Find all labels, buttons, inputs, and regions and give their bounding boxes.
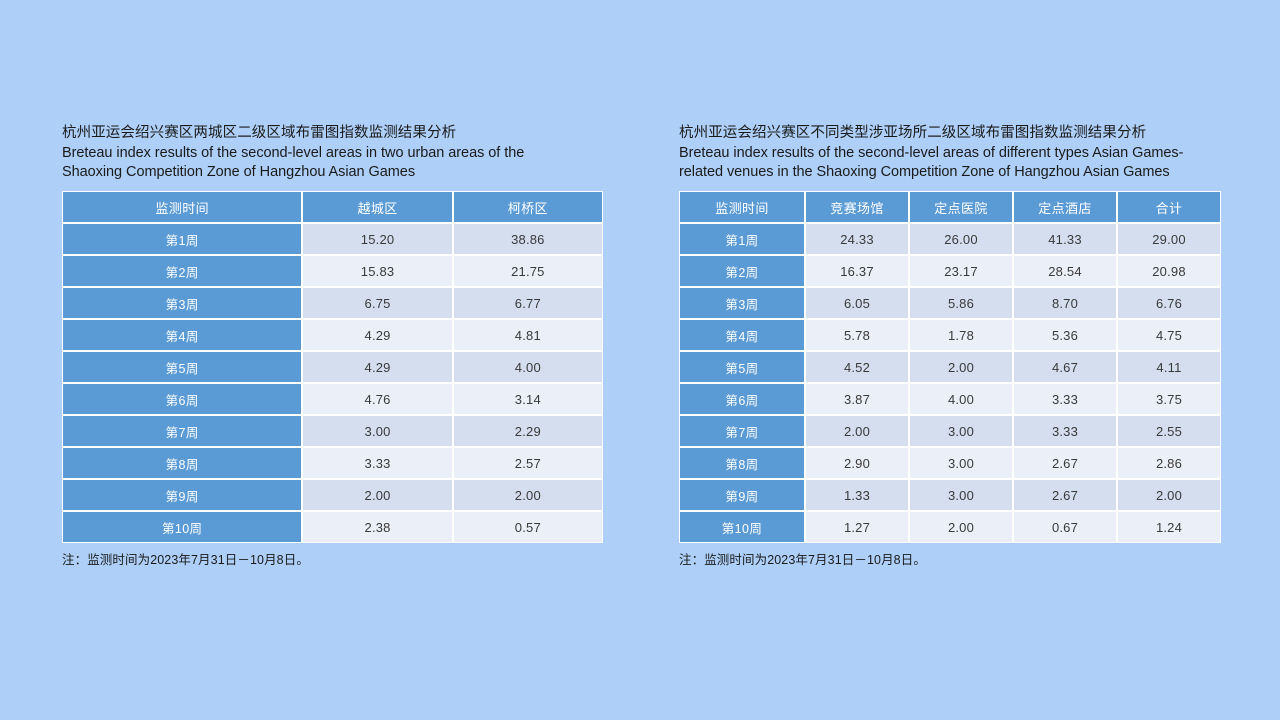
row-label: 第8周 <box>62 447 302 479</box>
cell-value: 2.57 <box>453 447 603 479</box>
column-header-hotel: 定点酒店 <box>1013 191 1117 223</box>
left-title-english-line2: Shaoxing Competition Zone of Hangzhou As… <box>62 163 603 181</box>
cell-value: 4.81 <box>453 319 603 351</box>
cell-value: 6.05 <box>805 287 909 319</box>
column-header-venue: 竞赛场馆 <box>805 191 909 223</box>
right-table-note: 注：监测时间为2023年7月31日－10月8日。 <box>679 549 1220 568</box>
table-row: 第9周 2.00 2.00 <box>62 479 603 511</box>
right-table-panel: 杭州亚运会绍兴赛区不同类型涉亚场所二级区域布雷图指数监测结果分析 Breteau… <box>679 124 1220 568</box>
cell-value: 1.24 <box>1117 511 1221 543</box>
column-header-hospital: 定点医院 <box>909 191 1013 223</box>
cell-value: 6.75 <box>302 287 452 319</box>
table-row: 第6周 3.87 4.00 3.33 3.75 <box>679 383 1221 415</box>
cell-value: 38.86 <box>453 223 603 255</box>
row-label: 第3周 <box>679 287 805 319</box>
cell-value: 6.76 <box>1117 287 1221 319</box>
cell-value: 2.67 <box>1013 447 1117 479</box>
cell-value: 0.67 <box>1013 511 1117 543</box>
cell-value: 2.00 <box>302 479 452 511</box>
cell-value: 15.20 <box>302 223 452 255</box>
cell-value: 4.52 <box>805 351 909 383</box>
row-label: 第6周 <box>62 383 302 415</box>
cell-value: 2.67 <box>1013 479 1117 511</box>
row-label: 第10周 <box>62 511 302 543</box>
cell-value: 4.11 <box>1117 351 1221 383</box>
cell-value: 4.76 <box>302 383 452 415</box>
cell-value: 5.86 <box>909 287 1013 319</box>
column-header-time: 监测时间 <box>62 191 302 223</box>
cell-value: 4.00 <box>453 351 603 383</box>
cell-value: 3.75 <box>1117 383 1221 415</box>
left-table-note: 注：监测时间为2023年7月31日－10月8日。 <box>62 549 603 568</box>
table-row: 第7周 2.00 3.00 3.33 2.55 <box>679 415 1221 447</box>
row-label: 第3周 <box>62 287 302 319</box>
cell-value: 1.78 <box>909 319 1013 351</box>
row-label: 第4周 <box>62 319 302 351</box>
cell-value: 2.00 <box>453 479 603 511</box>
cell-value: 4.67 <box>1013 351 1117 383</box>
cell-value: 8.70 <box>1013 287 1117 319</box>
right-title-english-line1: Breteau index results of the second-leve… <box>679 144 1220 162</box>
row-label: 第9周 <box>679 479 805 511</box>
right-table-body: 第1周 24.33 26.00 41.33 29.00 第2周 16.37 23… <box>679 223 1221 543</box>
cell-value: 4.00 <box>909 383 1013 415</box>
row-label: 第1周 <box>679 223 805 255</box>
cell-value: 24.33 <box>805 223 909 255</box>
right-table-head: 监测时间 竞赛场馆 定点医院 定点酒店 合计 <box>679 191 1221 223</box>
right-title-block: 杭州亚运会绍兴赛区不同类型涉亚场所二级区域布雷图指数监测结果分析 Breteau… <box>679 124 1220 181</box>
right-title-chinese: 杭州亚运会绍兴赛区不同类型涉亚场所二级区域布雷图指数监测结果分析 <box>679 124 1220 143</box>
cell-value: 2.29 <box>453 415 603 447</box>
table-row: 第5周 4.52 2.00 4.67 4.11 <box>679 351 1221 383</box>
left-table-head: 监测时间 越城区 柯桥区 <box>62 191 603 223</box>
left-title-chinese: 杭州亚运会绍兴赛区两城区二级区域布雷图指数监测结果分析 <box>62 124 603 143</box>
cell-value: 6.77 <box>453 287 603 319</box>
cell-value: 2.38 <box>302 511 452 543</box>
left-table-panel: 杭州亚运会绍兴赛区两城区二级区域布雷图指数监测结果分析 Breteau inde… <box>62 124 603 568</box>
cell-value: 2.55 <box>1117 415 1221 447</box>
row-label: 第7周 <box>679 415 805 447</box>
cell-value: 3.00 <box>302 415 452 447</box>
left-table-body: 第1周 15.20 38.86 第2周 15.83 21.75 第3周 6.75… <box>62 223 603 543</box>
cell-value: 3.00 <box>909 479 1013 511</box>
table-row: 第7周 3.00 2.29 <box>62 415 603 447</box>
row-label: 第5周 <box>62 351 302 383</box>
slide-canvas: 杭州亚运会绍兴赛区两城区二级区域布雷图指数监测结果分析 Breteau inde… <box>0 0 1280 720</box>
column-header-keqiao: 柯桥区 <box>453 191 603 223</box>
cell-value: 15.83 <box>302 255 452 287</box>
table-row: 第3周 6.05 5.86 8.70 6.76 <box>679 287 1221 319</box>
cell-value: 2.00 <box>1117 479 1221 511</box>
table-row: 第10周 2.38 0.57 <box>62 511 603 543</box>
row-label: 第2周 <box>679 255 805 287</box>
row-label: 第9周 <box>62 479 302 511</box>
table-row: 第9周 1.33 3.00 2.67 2.00 <box>679 479 1221 511</box>
table-row: 第1周 24.33 26.00 41.33 29.00 <box>679 223 1221 255</box>
cell-value: 4.29 <box>302 319 452 351</box>
table-row: 第10周 1.27 2.00 0.67 1.24 <box>679 511 1221 543</box>
column-header-time: 监测时间 <box>679 191 805 223</box>
cell-value: 16.37 <box>805 255 909 287</box>
cell-value: 1.33 <box>805 479 909 511</box>
cell-value: 5.36 <box>1013 319 1117 351</box>
table-row: 第3周 6.75 6.77 <box>62 287 603 319</box>
left-data-table: 监测时间 越城区 柯桥区 第1周 15.20 38.86 第2周 15.83 2… <box>62 191 603 543</box>
row-label: 第1周 <box>62 223 302 255</box>
cell-value: 2.00 <box>805 415 909 447</box>
cell-value: 2.00 <box>909 511 1013 543</box>
table-row: 第8周 2.90 3.00 2.67 2.86 <box>679 447 1221 479</box>
row-label: 第8周 <box>679 447 805 479</box>
cell-value: 0.57 <box>453 511 603 543</box>
right-title-english-line2: related venues in the Shaoxing Competiti… <box>679 163 1220 181</box>
cell-value: 28.54 <box>1013 255 1117 287</box>
cell-value: 1.27 <box>805 511 909 543</box>
cell-value: 5.78 <box>805 319 909 351</box>
row-label: 第4周 <box>679 319 805 351</box>
cell-value: 4.29 <box>302 351 452 383</box>
cell-value: 26.00 <box>909 223 1013 255</box>
table-row: 第8周 3.33 2.57 <box>62 447 603 479</box>
cell-value: 2.86 <box>1117 447 1221 479</box>
row-label: 第6周 <box>679 383 805 415</box>
cell-value: 4.75 <box>1117 319 1221 351</box>
table-row: 第4周 5.78 1.78 5.36 4.75 <box>679 319 1221 351</box>
cell-value: 29.00 <box>1117 223 1221 255</box>
cell-value: 3.00 <box>909 447 1013 479</box>
table-header-row: 监测时间 竞赛场馆 定点医院 定点酒店 合计 <box>679 191 1221 223</box>
table-row: 第2周 15.83 21.75 <box>62 255 603 287</box>
row-label: 第2周 <box>62 255 302 287</box>
cell-value: 23.17 <box>909 255 1013 287</box>
right-data-table: 监测时间 竞赛场馆 定点医院 定点酒店 合计 第1周 24.33 26.00 4… <box>679 191 1221 543</box>
column-header-total: 合计 <box>1117 191 1221 223</box>
table-row: 第2周 16.37 23.17 28.54 20.98 <box>679 255 1221 287</box>
cell-value: 41.33 <box>1013 223 1117 255</box>
table-row: 第1周 15.20 38.86 <box>62 223 603 255</box>
left-title-english-line1: Breteau index results of the second-leve… <box>62 144 603 162</box>
table-header-row: 监测时间 越城区 柯桥区 <box>62 191 603 223</box>
cell-value: 3.33 <box>302 447 452 479</box>
cell-value: 3.33 <box>1013 383 1117 415</box>
cell-value: 3.33 <box>1013 415 1117 447</box>
table-row: 第6周 4.76 3.14 <box>62 383 603 415</box>
left-title-block: 杭州亚运会绍兴赛区两城区二级区域布雷图指数监测结果分析 Breteau inde… <box>62 124 603 181</box>
column-header-yuecheng: 越城区 <box>302 191 452 223</box>
row-label: 第5周 <box>679 351 805 383</box>
cell-value: 2.00 <box>909 351 1013 383</box>
cell-value: 20.98 <box>1117 255 1221 287</box>
table-row: 第4周 4.29 4.81 <box>62 319 603 351</box>
table-row: 第5周 4.29 4.00 <box>62 351 603 383</box>
cell-value: 2.90 <box>805 447 909 479</box>
cell-value: 21.75 <box>453 255 603 287</box>
row-label: 第10周 <box>679 511 805 543</box>
cell-value: 3.14 <box>453 383 603 415</box>
row-label: 第7周 <box>62 415 302 447</box>
cell-value: 3.00 <box>909 415 1013 447</box>
cell-value: 3.87 <box>805 383 909 415</box>
